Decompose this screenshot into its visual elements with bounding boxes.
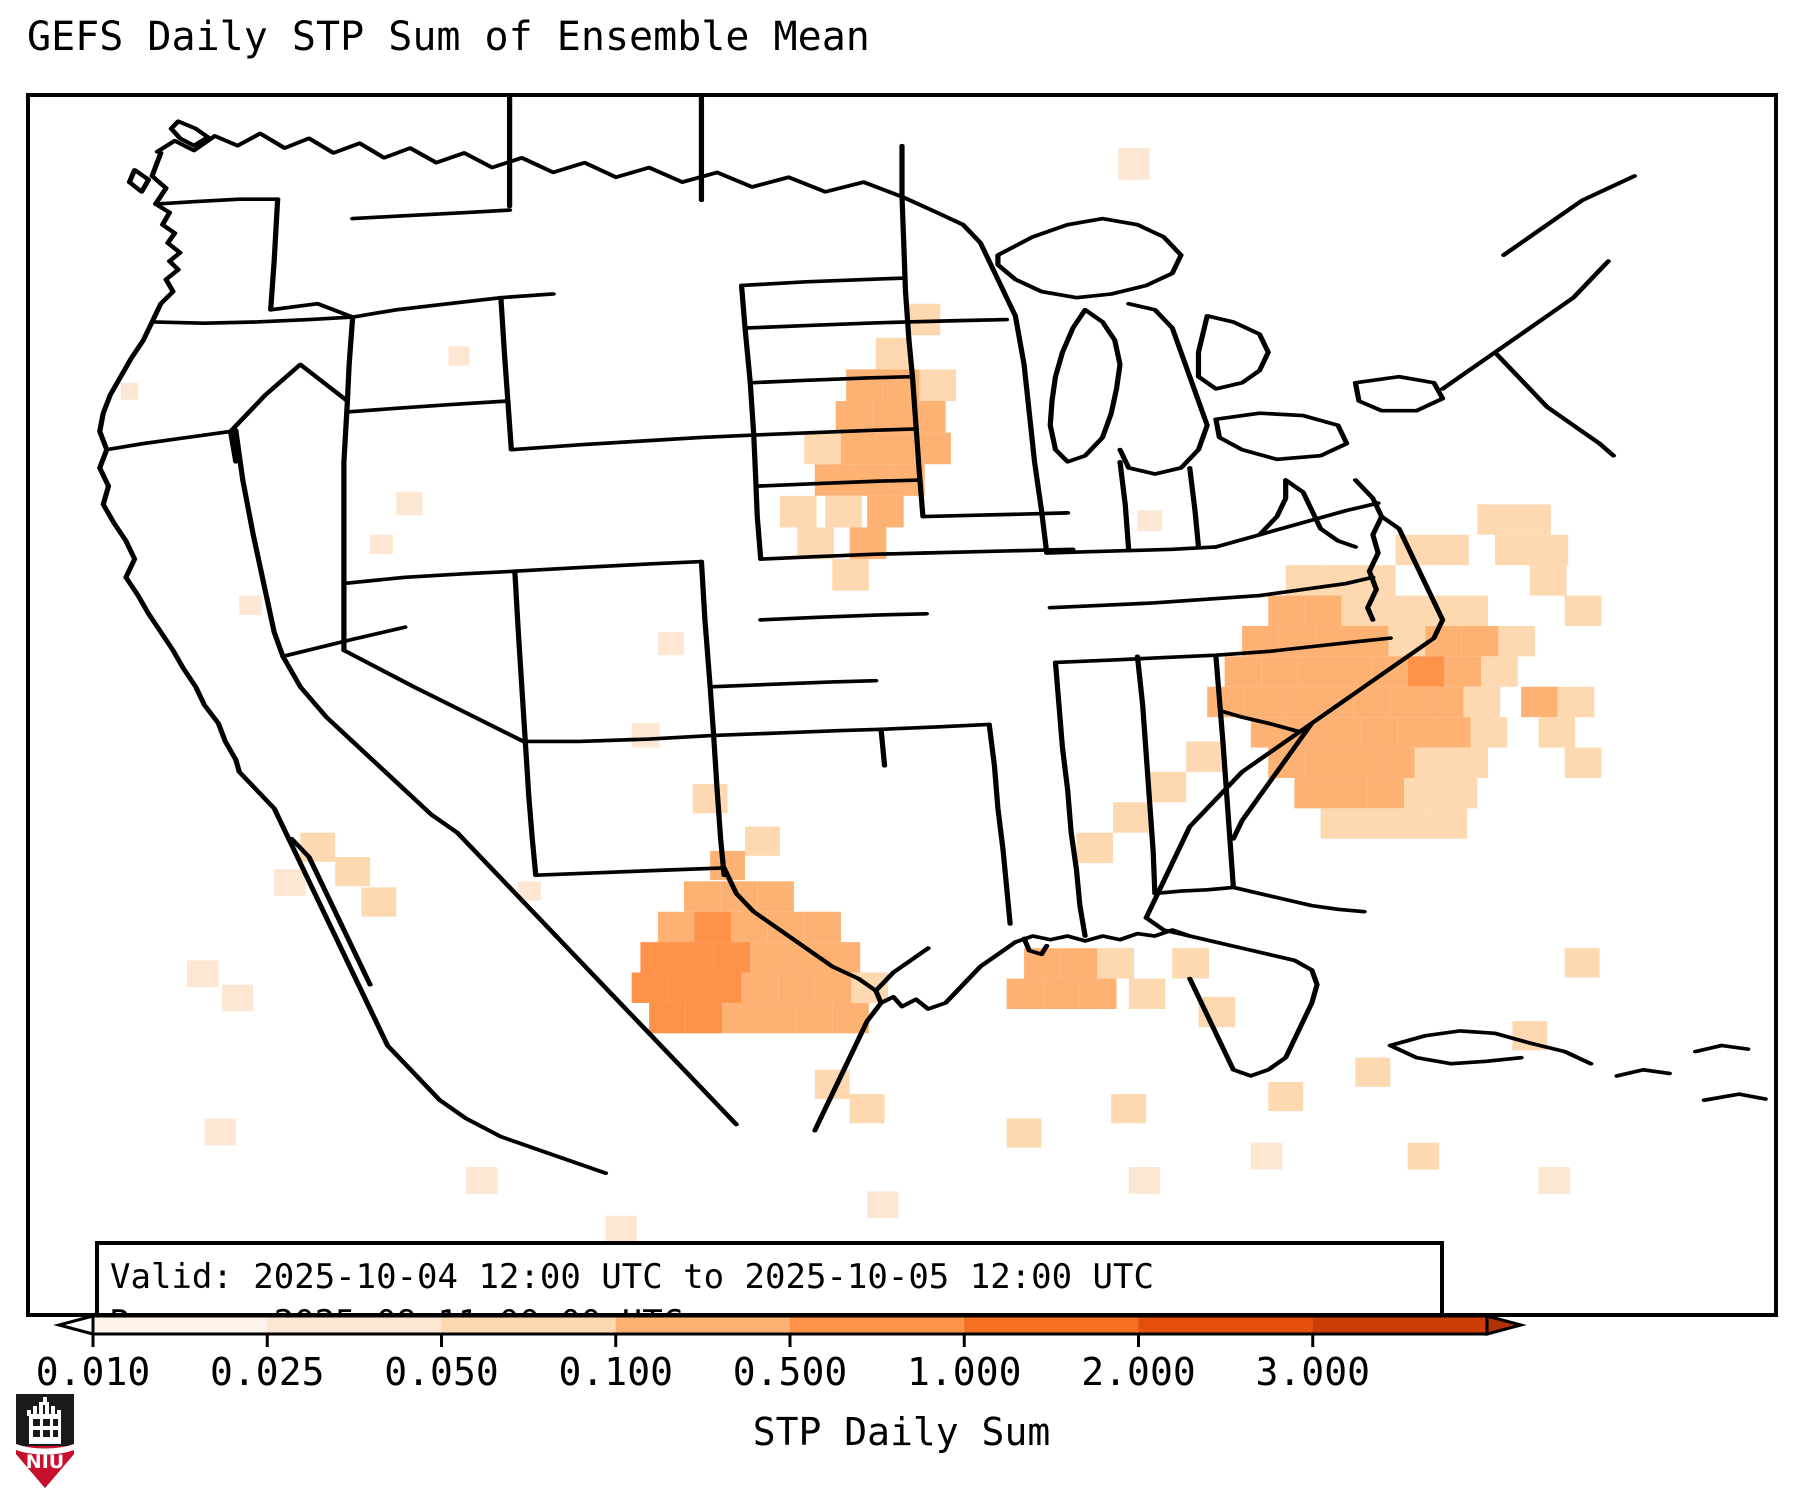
heatmap-cell (668, 973, 705, 1003)
heatmap-cell (1558, 687, 1595, 717)
heatmap-cell (1007, 979, 1044, 1009)
colorbar-band (616, 1316, 791, 1334)
heatmap-cell (1268, 596, 1305, 626)
colorbar-axis-label: STP Daily Sum (0, 1410, 1803, 1454)
colorbar[interactable] (0, 1308, 1803, 1348)
heatmap-cell (824, 942, 861, 972)
heatmap-cell (742, 973, 779, 1003)
heatmap-cell (1427, 687, 1464, 717)
map-frame: Valid: 2025-10-04 12:00 UTC to 2025-10-0… (26, 93, 1778, 1317)
page-title: GEFS Daily STP Sum of Ensemble Mean (27, 14, 870, 60)
heatmap-cell (361, 887, 396, 916)
heatmap-cell (1397, 717, 1434, 747)
heatmap-cell (1076, 833, 1113, 863)
heatmap-cell (1434, 717, 1471, 747)
colorbar-bands (59, 1316, 1521, 1334)
heatmap-cell (300, 833, 335, 862)
heatmap-cell (1080, 979, 1117, 1009)
colorbar-ticks (93, 1334, 1313, 1347)
colorbar-tick-label: 2.000 (1081, 1350, 1195, 1394)
heatmap-cell (187, 960, 218, 987)
heatmap-cell (1389, 626, 1426, 656)
heatmap-cell (796, 1003, 833, 1033)
heatmap-cell (714, 942, 751, 972)
heatmap-cell (1415, 748, 1452, 778)
heatmap-cell (1471, 717, 1508, 747)
heatmap-cell (1129, 979, 1166, 1009)
heatmap-cell (658, 912, 695, 942)
heatmap-cell (876, 338, 911, 370)
colorbar-band (442, 1316, 617, 1334)
heatmap-cell (1186, 741, 1223, 771)
heatmap-cell (1539, 1167, 1570, 1194)
colorbar-tick-labels: 0.0100.0250.0500.1000.5001.0002.0003.000 (0, 1350, 1803, 1400)
heatmap-cell (1129, 1167, 1160, 1194)
heatmap-cell (1378, 596, 1415, 626)
heatmap-cell (1317, 687, 1354, 717)
heatmap-cell (1361, 717, 1398, 747)
heatmap-cell (449, 346, 470, 365)
heatmap-cell (1521, 687, 1558, 717)
heatmap-cell (1481, 656, 1518, 686)
heatmap-cell (1430, 808, 1467, 838)
heatmap-cell (1514, 504, 1551, 534)
heatmap-cell (1280, 687, 1317, 717)
heatmap-cell (846, 369, 883, 401)
heatmap-cell (335, 857, 370, 886)
heatmap-cell (1305, 748, 1342, 778)
heatmap-cell (841, 433, 878, 465)
heatmap-cell (1251, 1143, 1282, 1170)
colorbar-band (1139, 1316, 1314, 1334)
heatmap-cell (705, 973, 742, 1003)
heatmap-cell (745, 827, 780, 856)
heatmap-cell (1495, 535, 1532, 565)
colorbar-tick-label: 0.500 (733, 1350, 847, 1394)
heatmap-cell (722, 1003, 759, 1033)
heatmap-cell (396, 492, 422, 515)
heatmap-cell (649, 1003, 686, 1033)
heatmap-cell (750, 942, 787, 972)
heatmap-cell (1137, 510, 1161, 531)
colorbar-tick-label: 1.000 (907, 1350, 1021, 1394)
heatmap-cell (825, 496, 862, 528)
heatmap-cell (1565, 948, 1600, 977)
heatmap-cell (778, 973, 815, 1003)
colorbar-tick-label: 0.050 (384, 1350, 498, 1394)
heatmap-cell (1432, 535, 1469, 565)
colorbar-band (267, 1316, 442, 1334)
heatmap-cell (204, 1118, 235, 1145)
heatmap-cell (1324, 717, 1361, 747)
colorbar-over-arrow (1487, 1316, 1521, 1334)
heatmap-cell (1279, 626, 1316, 656)
heatmap-cell (222, 985, 253, 1012)
heatmap-cell (815, 464, 852, 496)
heatmap-cell (1408, 656, 1445, 686)
heatmap-cell (632, 973, 669, 1003)
heatmap-cell (606, 1216, 637, 1243)
heatmap-cell (1061, 948, 1098, 978)
info-box: Valid: 2025-10-04 12:00 UTC to 2025-10-0… (95, 1241, 1444, 1317)
niu-logo-text: NIU (26, 1451, 64, 1473)
heatmap-cell (878, 433, 915, 465)
heatmap-cell (677, 942, 714, 972)
valid-time-row: Valid: 2025-10-04 12:00 UTC to 2025-10-0… (110, 1254, 1440, 1300)
heatmap-cell (658, 632, 684, 655)
heatmap-cell (832, 559, 869, 591)
heatmap-cell (694, 912, 731, 942)
heatmap-cell (919, 369, 956, 401)
heatmap-cell (1321, 808, 1358, 838)
heatmap-cell (1539, 717, 1576, 747)
heatmap-cell (1007, 1118, 1042, 1147)
heatmap-cell (815, 973, 852, 1003)
heatmap-cell (370, 535, 393, 554)
heatmap-cell (1378, 748, 1415, 778)
heatmap-cell (686, 1003, 723, 1033)
heatmap-cell (1451, 596, 1488, 626)
heatmap-cell (693, 784, 728, 813)
heatmap-cell (1244, 687, 1281, 717)
heatmap-cell (757, 881, 794, 911)
heatmap-cell (1097, 948, 1134, 978)
heatmap-cell (466, 1167, 497, 1194)
heatmap-cell (1478, 504, 1515, 534)
heatmap-cell (1225, 656, 1262, 686)
heatmap-cell (1043, 979, 1080, 1009)
heatmap-cell (1335, 656, 1372, 686)
heatmap-cell (1565, 596, 1602, 626)
heatmap-cell (780, 496, 817, 528)
colorbar-band (93, 1316, 268, 1334)
heatmap-cell (836, 401, 873, 433)
heatmap-cell (1404, 778, 1441, 808)
colorbar-band (1313, 1316, 1488, 1334)
heatmap-cell (1464, 687, 1501, 717)
map-canvas (30, 97, 1774, 1313)
heatmap-cell (804, 912, 841, 942)
heatmap-cell (1368, 778, 1405, 808)
heatmap-cell (1462, 626, 1499, 656)
heatmap-cell (1111, 1094, 1146, 1123)
heatmap-cell (1530, 565, 1567, 595)
heatmap-cell (632, 723, 660, 747)
heatmap-cell (1408, 1143, 1439, 1170)
heatmap-cell (1118, 148, 1149, 180)
heatmap-cell (239, 596, 262, 615)
heatmap-cell (640, 942, 677, 972)
heatmap-cell (1532, 535, 1569, 565)
heatmap-cell (1451, 748, 1488, 778)
heatmap-cell (1261, 656, 1298, 686)
colorbar-tick-label: 0.100 (559, 1350, 673, 1394)
heatmap-cell (1444, 656, 1481, 686)
heatmap-cell (1268, 1082, 1303, 1111)
heatmap-cell (1305, 596, 1342, 626)
colorbar-under-arrow (59, 1316, 93, 1334)
heatmap-cell (867, 496, 904, 528)
heatmap-cell (1113, 802, 1150, 832)
heatmap-cell (1355, 1058, 1390, 1087)
heatmap-cell (1390, 687, 1427, 717)
heatmap-cell (759, 1003, 796, 1033)
colorbar-band (790, 1316, 965, 1334)
heatmap-cell (867, 1191, 898, 1218)
colorbar-band (964, 1316, 1139, 1334)
heatmap-cell (274, 869, 305, 896)
heatmap-cell (684, 881, 721, 911)
heatmap-cell (1331, 778, 1368, 808)
heatmap-cell (121, 383, 138, 400)
heatmap-cell (1294, 778, 1331, 808)
heatmap-cell (1565, 748, 1602, 778)
colorbar-tick-label: 0.025 (210, 1350, 324, 1394)
colorbar-tick-label: 0.010 (36, 1350, 150, 1394)
niu-logo: NIU (14, 1392, 76, 1490)
heatmap-cell (1498, 626, 1535, 656)
heatmap-cell (1298, 656, 1335, 686)
colorbar-tick-label: 3.000 (1256, 1350, 1370, 1394)
heatmap-cell (1357, 808, 1394, 838)
heatmap-cell (850, 1094, 885, 1123)
heatmap-cell (1394, 808, 1431, 838)
heatmap-cell (1341, 748, 1378, 778)
heatmap-cell (1441, 778, 1478, 808)
heatmap-cell (1172, 948, 1209, 978)
heatmap-cell (804, 433, 841, 465)
heatmap-cell (1150, 772, 1187, 802)
